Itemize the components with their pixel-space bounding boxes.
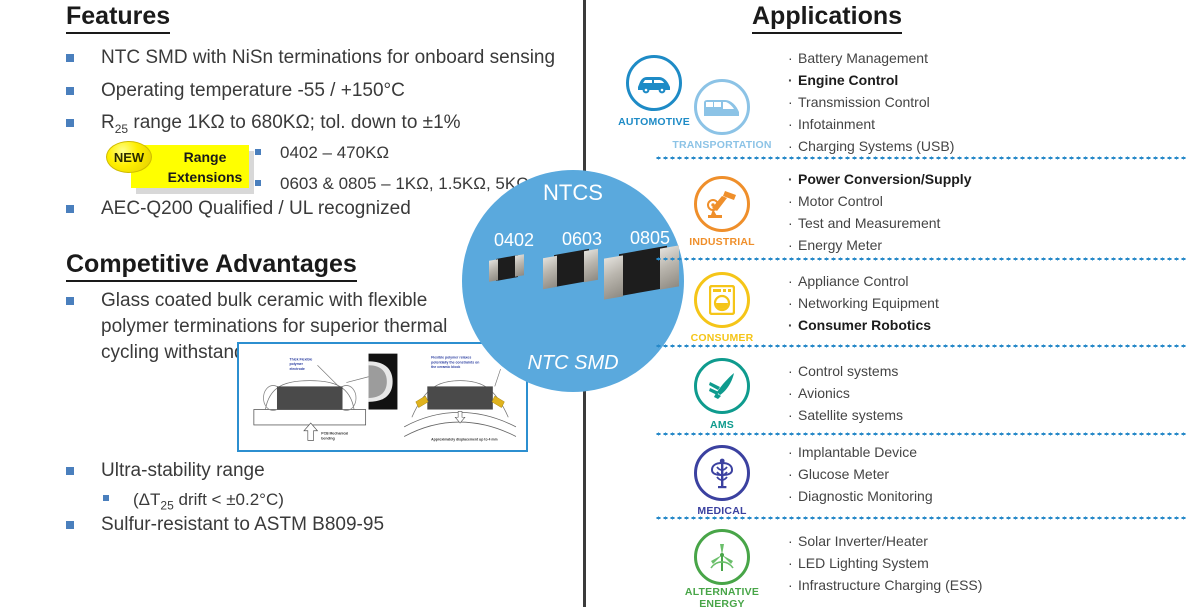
- app-item: ·Charging Systems (USB): [788, 135, 954, 157]
- range-extensions-line1: Range: [157, 147, 253, 167]
- separator-5: [655, 516, 1188, 520]
- feature-bullet-1: NTC SMD with NiSn terminations for onboa…: [66, 45, 555, 71]
- drift-subscript: 25: [160, 498, 173, 512]
- app-label-alternative-energy: ALTERNATIVE ENERGY: [667, 586, 777, 610]
- svg-text:Thick Flexible: Thick Flexible: [290, 357, 313, 361]
- feature-bullet-3-r25-range: R25 range 1KΩ to 680KΩ; tol. down to ±1%: [66, 110, 461, 142]
- smd-chip-0603-image: [543, 248, 603, 292]
- app-item: ·Infrastructure Charging (ESS): [788, 574, 982, 596]
- app-item: ·Solar Inverter/Heater: [788, 530, 982, 552]
- app-icon-consumer[interactable]: [694, 272, 750, 328]
- svg-text:electrode: electrode: [290, 367, 305, 371]
- app-item: ·Infotainment: [788, 113, 954, 135]
- range-extensions-label: Range Extensions: [157, 147, 253, 187]
- r25-subscript: 25: [115, 122, 128, 136]
- svg-text:polymer: polymer: [290, 362, 304, 366]
- app-icon-ams[interactable]: [694, 358, 750, 414]
- train-icon: [703, 96, 741, 118]
- app-icon-automotive[interactable]: [626, 55, 682, 111]
- washing-machine-icon: [709, 285, 735, 315]
- separator-2: [655, 257, 1188, 261]
- separator-4: [655, 432, 1188, 436]
- feature-text-1: NTC SMD with NiSn terminations for onboa…: [101, 45, 555, 71]
- bullet-square-icon: [103, 495, 109, 501]
- jet-aircraft-icon: [707, 371, 737, 401]
- separator-3: [655, 344, 1188, 348]
- bullet-square-icon: [66, 297, 74, 305]
- app-icon-medical[interactable]: [694, 445, 750, 501]
- app-list-industrial: ·Power Conversion/Supply ·Motor Control …: [788, 168, 971, 256]
- features-heading: Features: [66, 2, 170, 34]
- car-icon: [636, 71, 672, 95]
- feature-bullet-4: AEC-Q200 Qualified / UL recognized: [66, 196, 411, 222]
- chip-label-0603: 0603: [562, 229, 602, 250]
- app-item: ·Glucose Meter: [788, 463, 933, 485]
- r25-rest: range 1KΩ to 680KΩ; tol. down to ±1%: [128, 112, 460, 133]
- bullet-square-icon: [255, 180, 261, 186]
- bullet-square-icon: [66, 205, 74, 213]
- app-label-consumer: CONSUMER: [667, 332, 777, 344]
- app-list-automotive: ·Battery Management ·Engine Control ·Tra…: [788, 47, 954, 157]
- app-item: ·Energy Meter: [788, 234, 971, 256]
- app-icon-transportation[interactable]: [694, 79, 750, 135]
- drift-pre: (ΔT: [133, 490, 160, 509]
- bullet-square-icon: [66, 87, 74, 95]
- chip-label-0402: 0402: [494, 230, 534, 251]
- app-item: ·Consumer Robotics: [788, 314, 939, 336]
- advantage-bullet-3: Sulfur-resistant to ASTM B809-95: [66, 512, 384, 538]
- app-item: ·Engine Control: [788, 69, 954, 91]
- app-list-medical: ·Implantable Device ·Glucose Meter ·Diag…: [788, 441, 933, 507]
- svg-text:Approximately displacement up: Approximately displacement up to 4 mm: [431, 437, 497, 441]
- caduceus-icon: [709, 457, 735, 489]
- ntc-smd-label: NTC SMD: [462, 352, 684, 375]
- r25-prefix: R: [101, 112, 115, 133]
- feature-text-4: AEC-Q200 Qualified / UL recognized: [101, 196, 411, 222]
- app-label-automotive: AUTOMOTIVE: [599, 116, 709, 128]
- competitive-advantages-heading: Competitive Advantages: [66, 250, 357, 282]
- smd-chip-0402-image: [489, 254, 529, 284]
- bullet-square-icon: [255, 149, 261, 155]
- ntcs-label: NTCS: [462, 180, 684, 206]
- bullet-square-icon: [66, 467, 74, 475]
- svg-text:PCB Mechanical: PCB Mechanical: [321, 432, 348, 436]
- svg-text:bending: bending: [321, 436, 334, 440]
- app-list-alternative-energy: ·Solar Inverter/Heater ·LED Lighting Sys…: [788, 530, 982, 596]
- app-icon-industrial[interactable]: [694, 176, 750, 232]
- svg-text:the ceramic block: the ceramic block: [431, 365, 460, 369]
- app-item: ·Control systems: [788, 360, 903, 382]
- app-item: ·Satellite systems: [788, 404, 903, 426]
- app-label-ams: AMS: [667, 419, 777, 431]
- range-extensions-line2: Extensions: [157, 167, 253, 187]
- feature-text-3: R25 range 1KΩ to 680KΩ; tol. down to ±1%: [101, 110, 461, 142]
- app-item: ·Transmission Control: [788, 91, 954, 113]
- separator-1: [655, 156, 1188, 160]
- bullet-square-icon: [66, 119, 74, 127]
- wind-turbine-icon: [707, 542, 737, 572]
- feature-text-2: Operating temperature -55 / +150°C: [101, 78, 405, 104]
- advantage-bullet-2: Ultra-stability range: [66, 458, 265, 484]
- app-item: ·Networking Equipment: [788, 292, 939, 314]
- app-item: ·Power Conversion/Supply: [788, 168, 971, 190]
- app-item: ·Battery Management: [788, 47, 954, 69]
- advantage-text-3: Sulfur-resistant to ASTM B809-95: [101, 512, 384, 538]
- feature-bullet-2: Operating temperature -55 / +150°C: [66, 78, 405, 104]
- bullet-square-icon: [66, 54, 74, 62]
- range-item-text-1: 0402 – 470KΩ: [280, 142, 389, 164]
- smd-chip-0805-image: [604, 245, 684, 303]
- app-item: ·Implantable Device: [788, 441, 933, 463]
- new-badge: NEW: [106, 141, 152, 173]
- robot-arm-icon: [705, 189, 739, 219]
- app-item: ·Motor Control: [788, 190, 971, 212]
- app-list-consumer: ·Appliance Control ·Networking Equipment…: [788, 270, 939, 336]
- app-item: ·Appliance Control: [788, 270, 939, 292]
- drift-post: drift < ±0.2°C): [174, 490, 284, 509]
- app-item: ·Avionics: [788, 382, 903, 404]
- advantage-text-2: Ultra-stability range: [101, 458, 265, 484]
- app-icon-alternative-energy[interactable]: [694, 529, 750, 585]
- app-label-industrial: INDUSTRIAL: [667, 236, 777, 248]
- app-item: ·LED Lighting System: [788, 552, 982, 574]
- app-item: ·Diagnostic Monitoring: [788, 485, 933, 507]
- applications-heading: Applications: [752, 2, 902, 34]
- slide-canvas: Features NTC SMD with NiSn terminations …: [0, 0, 1188, 607]
- range-item-0402: 0402 – 470KΩ: [255, 142, 529, 164]
- bullet-square-icon: [66, 521, 74, 529]
- app-item: ·Test and Measurement: [788, 212, 971, 234]
- app-list-ams: ·Control systems ·Avionics ·Satellite sy…: [788, 360, 903, 426]
- app-label-transportation: TRANSPORTATION: [667, 139, 777, 151]
